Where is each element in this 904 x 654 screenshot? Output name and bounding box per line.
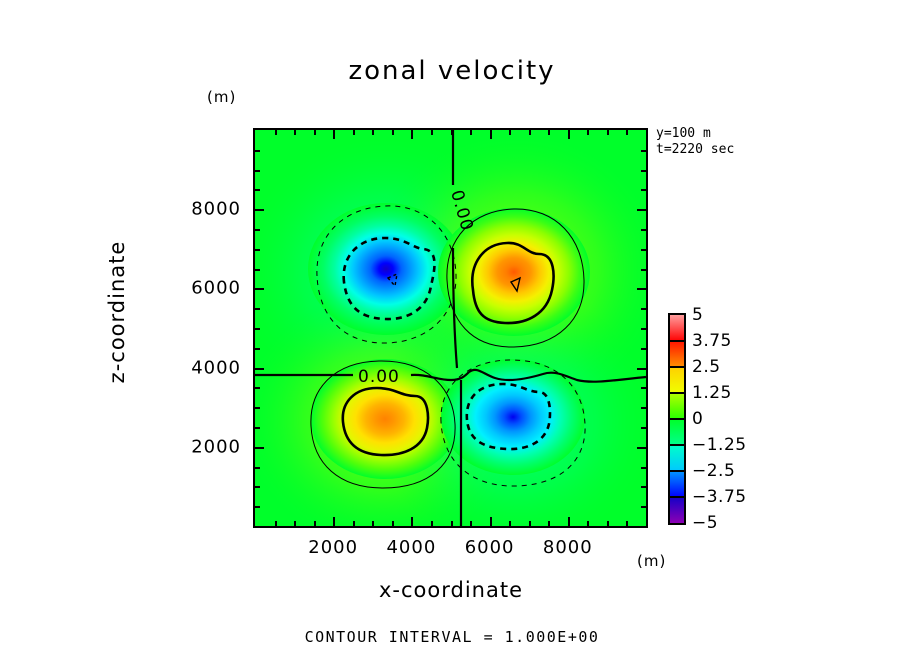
colorbar-tick-label: 0 — [692, 409, 703, 429]
contour-interval-caption: CONTOUR INTERVAL = 1.000E+00 — [0, 628, 904, 646]
colorbar-separator — [668, 392, 686, 394]
colorbar-separator — [668, 444, 686, 446]
colorbar-tick-label: 1.25 — [692, 383, 732, 403]
colorbar-separator — [668, 496, 686, 498]
colorbar-tick-label: −3.75 — [692, 487, 747, 507]
colorbar-separator — [668, 366, 686, 368]
colorbar-tick-label: 2.5 — [692, 357, 721, 377]
colorbar-tick-label: 3.75 — [692, 331, 732, 351]
colorbar-separator — [668, 340, 686, 342]
colorbar-tick-label: −5 — [692, 513, 718, 533]
colorbar-separator — [668, 470, 686, 472]
colorbar-tick-label: −1.25 — [692, 435, 747, 455]
colorbar-separator — [668, 418, 686, 420]
colorbar-tick-label: −2.5 — [692, 461, 735, 481]
colorbar-tick-label: 5 — [692, 305, 703, 325]
colorbar-label-layer: 53.752.51.250−1.25−2.5−3.75−5 — [0, 0, 904, 654]
